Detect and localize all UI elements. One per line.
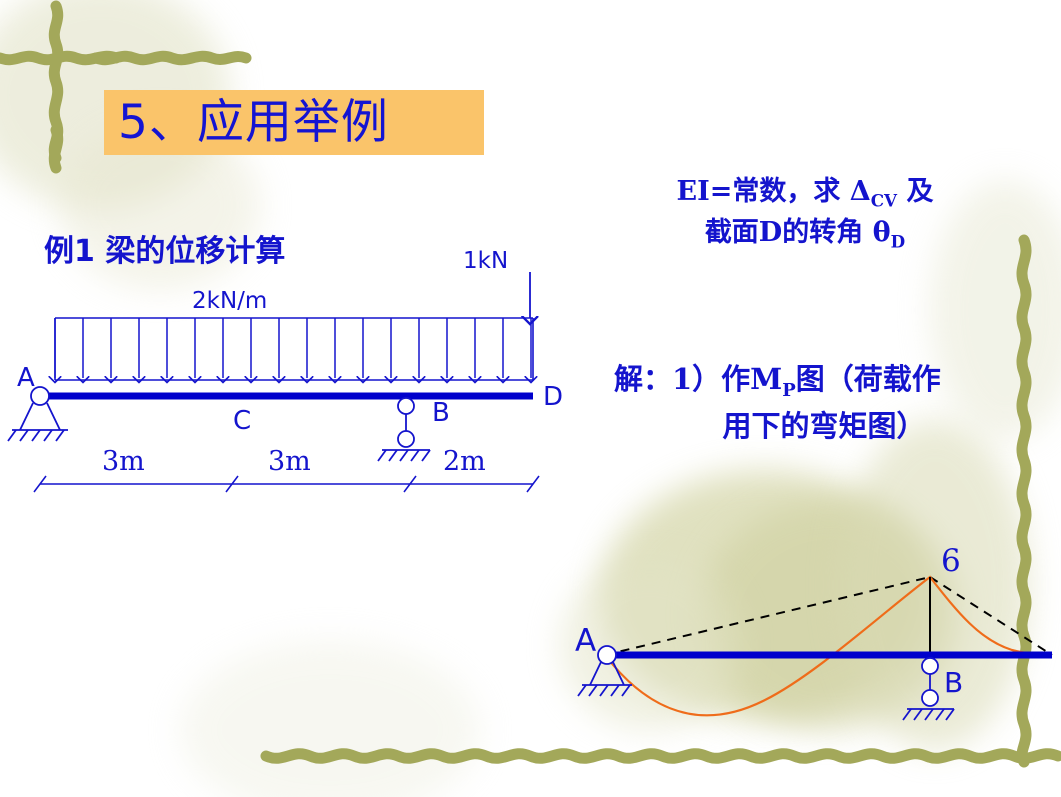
- given-line-1: EI=常数，求 ΔCV 及: [620, 172, 990, 213]
- dimension-label-1: 3m: [102, 446, 145, 477]
- moment-diagram-chart: [560, 520, 1060, 750]
- solution-text: 解：1）作MP图（荷载作 用下的弯矩图）: [614, 358, 1014, 448]
- moment-peak-value: 6: [941, 543, 961, 579]
- support-b-link: [378, 398, 430, 461]
- label-udl: 2kN/m: [192, 288, 267, 314]
- solution-line-2: 用下的弯矩图）: [614, 405, 1014, 449]
- label-node-c: C: [233, 406, 251, 436]
- dimension-label-3: 2m: [443, 446, 486, 477]
- given-line-2: 截面D的转角 θD: [620, 213, 990, 254]
- watermark-blob: [180, 640, 480, 797]
- label-node-b: B: [432, 398, 450, 428]
- dimension-label-2: 3m: [268, 446, 311, 477]
- given-condition-text: EI=常数，求 ΔCV 及 截面D的转角 θD: [620, 172, 990, 253]
- solution-line-1: 解：1）作MP图（荷载作: [614, 358, 1014, 405]
- moment-chord-dashed: [605, 577, 1052, 655]
- dimension-line: [34, 476, 539, 492]
- distributed-load-box: [55, 318, 533, 380]
- label-node-a: A: [17, 363, 35, 393]
- moment-label-node-a: A: [575, 623, 596, 659]
- label-point-load: 1kN: [463, 248, 508, 274]
- distributed-load-arrows: [55, 318, 531, 378]
- beam-structural-diagram: [0, 0, 600, 510]
- label-node-d: D: [543, 382, 563, 412]
- moment-label-node-b: B: [944, 666, 963, 699]
- moment-curve-mp: [605, 577, 1052, 715]
- slide-canvas: 5、应用举例 例1 梁的位移计算 EI=常数，求 ΔCV 及 截面D的转角 θD…: [0, 0, 1061, 797]
